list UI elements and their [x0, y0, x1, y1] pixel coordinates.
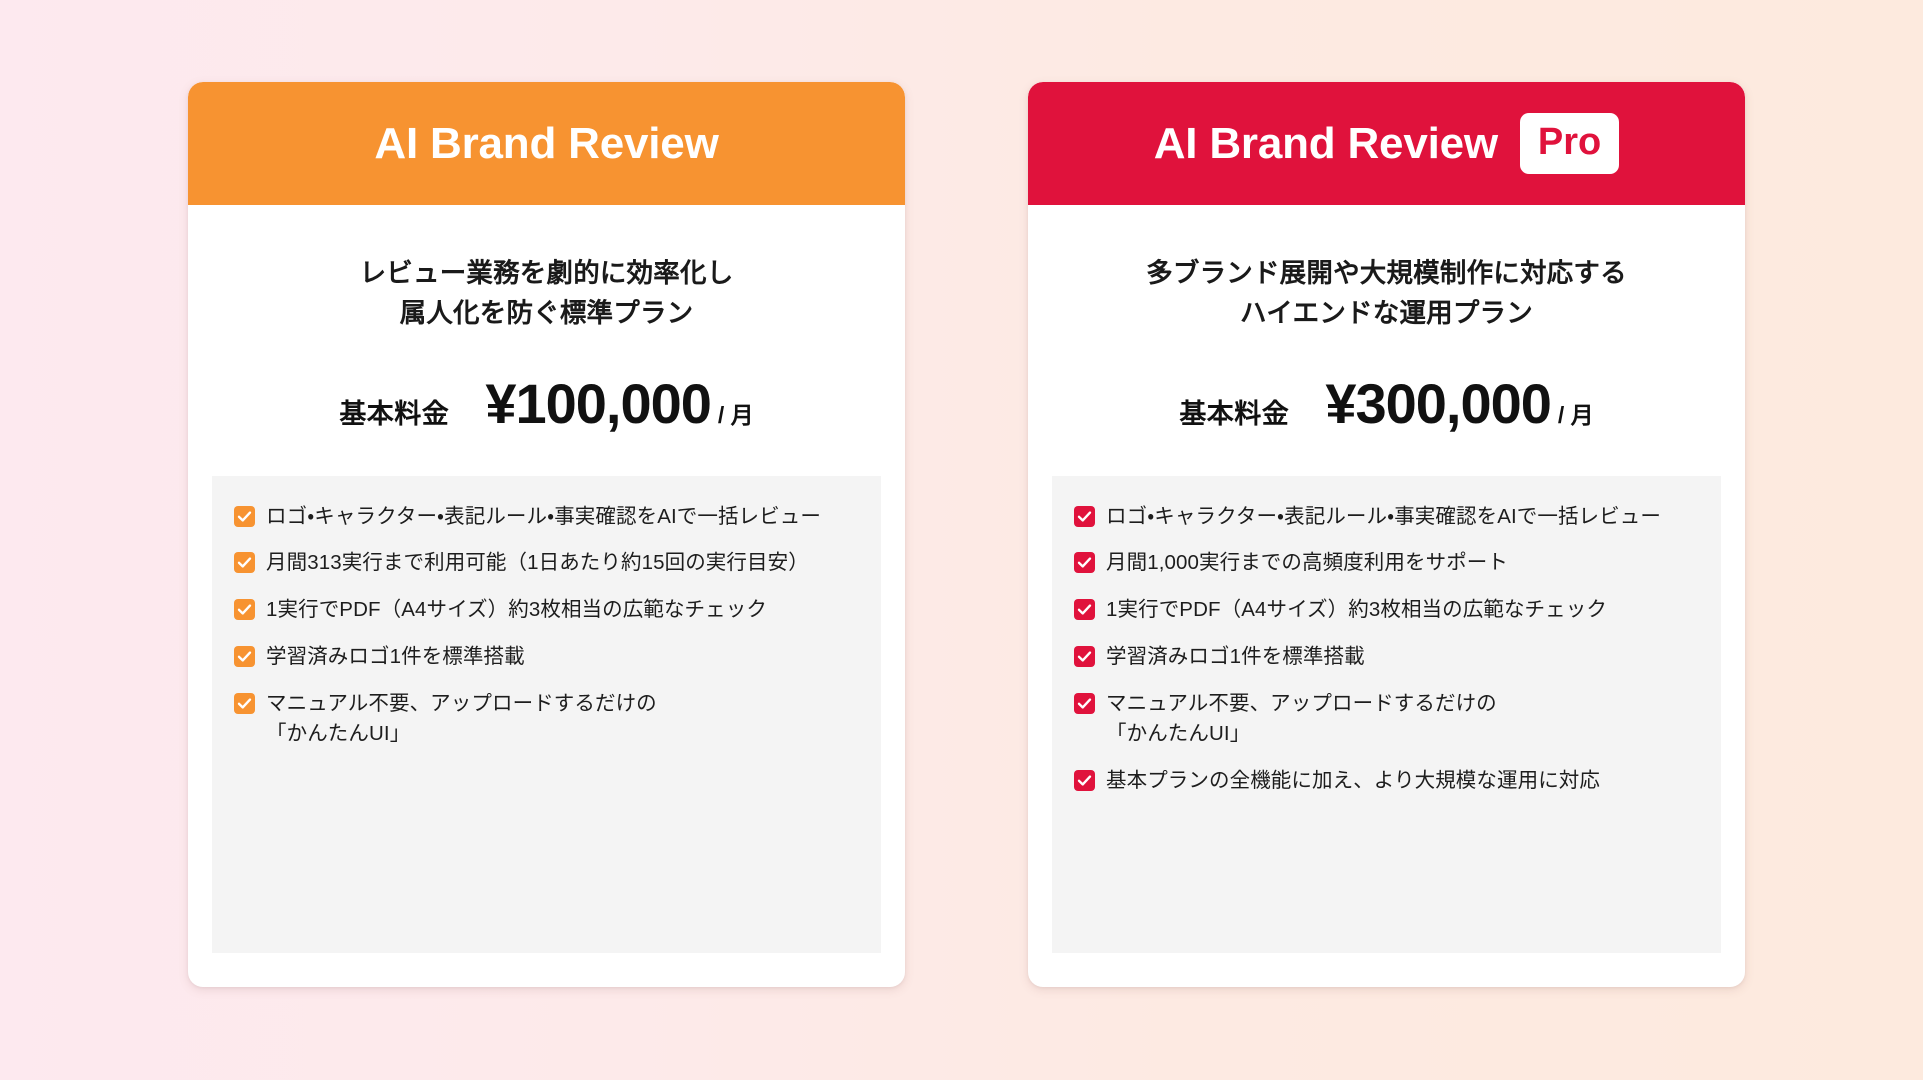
check-icon: [234, 599, 255, 620]
check-icon: [1074, 506, 1095, 527]
pricing-card-basic[interactable]: AI Brand Review レビュー業務を劇的に効率化し 属人化を防ぐ標準プ…: [188, 82, 905, 987]
feature-label: 基本プランの全機能に加え、より大規模な運用に対応: [1106, 766, 1600, 796]
pricing-comparison-page: AI Brand Review レビュー業務を劇的に効率化し 属人化を防ぐ標準プ…: [0, 0, 1923, 1080]
pricing-cards-container: AI Brand Review レビュー業務を劇的に効率化し 属人化を防ぐ標準プ…: [188, 82, 1745, 987]
feature-label: 学習済みロゴ1件を標準搭載: [1106, 642, 1365, 672]
price-amount-basic: ¥100,000: [485, 376, 711, 432]
feature-label: ロゴ・キャラクター・表記ルール・事実確認をAIで一括レビュー: [1106, 502, 1661, 532]
feature-item: 月間313実行まで利用可能（1日あたり約15回の実行目安）: [234, 548, 855, 578]
check-icon: [234, 646, 255, 667]
feature-label: 学習済みロゴ1件を標準搭載: [266, 642, 525, 672]
plan-subtitle-basic: レビュー業務を劇的に効率化し 属人化を防ぐ標準プラン: [212, 253, 881, 334]
check-icon: [234, 552, 255, 573]
feature-item: 月間1,000実行までの高頻度利用をサポート: [1074, 548, 1695, 578]
price-label-basic: 基本料金: [339, 392, 449, 431]
feature-item: 基本プランの全機能に加え、より大規模な運用に対応: [1074, 766, 1695, 796]
feature-label: マニュアル不要、アップロードするだけの 「かんたんUI」: [266, 689, 657, 749]
check-icon: [1074, 599, 1095, 620]
price-amount-pro: ¥300,000: [1325, 376, 1551, 432]
check-icon: [1074, 646, 1095, 667]
feature-label: ロゴ・キャラクター・表記ルール・事実確認をAIで一括レビュー: [266, 502, 821, 532]
plan-title-basic: AI Brand Review: [374, 122, 718, 166]
card-header-basic: AI Brand Review: [188, 82, 905, 205]
price-unit-pro: / 月: [1558, 396, 1594, 430]
check-icon: [1074, 693, 1095, 714]
price-label-pro: 基本料金: [1179, 392, 1289, 431]
pricing-card-pro[interactable]: AI Brand Review Pro 多ブランド展開や大規模制作に対応する ハ…: [1028, 82, 1745, 987]
price-row-pro: 基本料金 ¥300,000 / 月: [1052, 376, 1721, 432]
check-icon: [234, 506, 255, 527]
feature-item: 1実行でPDF（A4サイズ）約3枚相当の広範なチェック: [1074, 595, 1695, 625]
feature-label: 1実行でPDF（A4サイズ）約3枚相当の広範なチェック: [1106, 595, 1607, 625]
check-icon: [234, 693, 255, 714]
feature-item: 学習済みロゴ1件を標準搭載: [234, 642, 855, 672]
check-icon: [1074, 770, 1095, 791]
price-row-basic: 基本料金 ¥100,000 / 月: [212, 376, 881, 432]
card-body-pro: 多ブランド展開や大規模制作に対応する ハイエンドな運用プラン 基本料金 ¥300…: [1028, 205, 1745, 987]
price-unit-basic: / 月: [718, 396, 754, 430]
check-icon: [1074, 552, 1095, 573]
feature-label: 月間1,000実行までの高頻度利用をサポート: [1106, 548, 1508, 578]
card-header-pro: AI Brand Review Pro: [1028, 82, 1745, 205]
feature-label: 月間313実行まで利用可能（1日あたり約15回の実行目安）: [266, 548, 809, 578]
card-body-basic: レビュー業務を劇的に効率化し 属人化を防ぐ標準プラン 基本料金 ¥100,000…: [188, 205, 905, 987]
feature-item: ロゴ・キャラクター・表記ルール・事実確認をAIで一括レビュー: [1074, 502, 1695, 532]
pro-badge: Pro: [1520, 113, 1619, 174]
feature-item: 学習済みロゴ1件を標準搭載: [1074, 642, 1695, 672]
feature-item: ロゴ・キャラクター・表記ルール・事実確認をAIで一括レビュー: [234, 502, 855, 532]
feature-item: マニュアル不要、アップロードするだけの 「かんたんUI」: [1074, 689, 1695, 749]
feature-label: マニュアル不要、アップロードするだけの 「かんたんUI」: [1106, 689, 1497, 749]
feature-item: マニュアル不要、アップロードするだけの 「かんたんUI」: [234, 689, 855, 749]
feature-item: 1実行でPDF（A4サイズ）約3枚相当の広範なチェック: [234, 595, 855, 625]
plan-title-pro: AI Brand Review: [1154, 122, 1498, 166]
feature-list-pro: ロゴ・キャラクター・表記ルール・事実確認をAIで一括レビュー 月間1,000実行…: [1052, 476, 1721, 953]
feature-label: 1実行でPDF（A4サイズ）約3枚相当の広範なチェック: [266, 595, 767, 625]
feature-list-basic: ロゴ・キャラクター・表記ルール・事実確認をAIで一括レビュー 月間313実行まで…: [212, 476, 881, 953]
plan-subtitle-pro: 多ブランド展開や大規模制作に対応する ハイエンドな運用プラン: [1052, 253, 1721, 334]
